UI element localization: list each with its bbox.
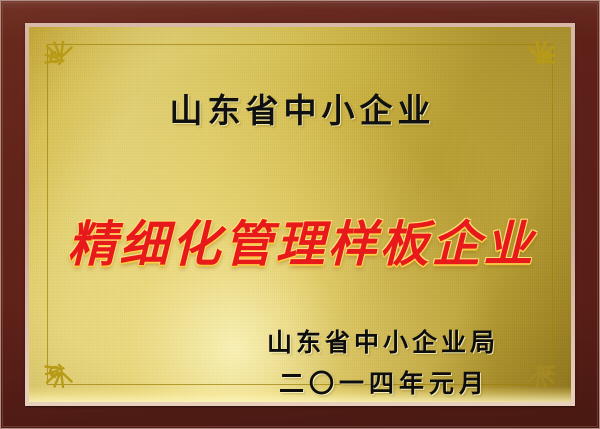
award-title: 精细化管理样板企业 — [29, 205, 571, 276]
organization-title: 山东省中小企业 — [29, 84, 571, 132]
plaque-text-layer: 山东省中小企业 精细化管理样板企业 山东省中小企业局 二〇一四年元月 — [29, 27, 571, 402]
issuing-authority: 山东省中小企业局 — [263, 323, 499, 359]
gold-plate: 山东省中小企业 精细化管理样板企业 山东省中小企业局 二〇一四年元月 — [29, 27, 571, 402]
award-plaque: 山东省中小企业 精细化管理样板企业 山东省中小企业局 二〇一四年元月 — [0, 0, 600, 429]
issue-date: 二〇一四年元月 — [274, 364, 489, 400]
